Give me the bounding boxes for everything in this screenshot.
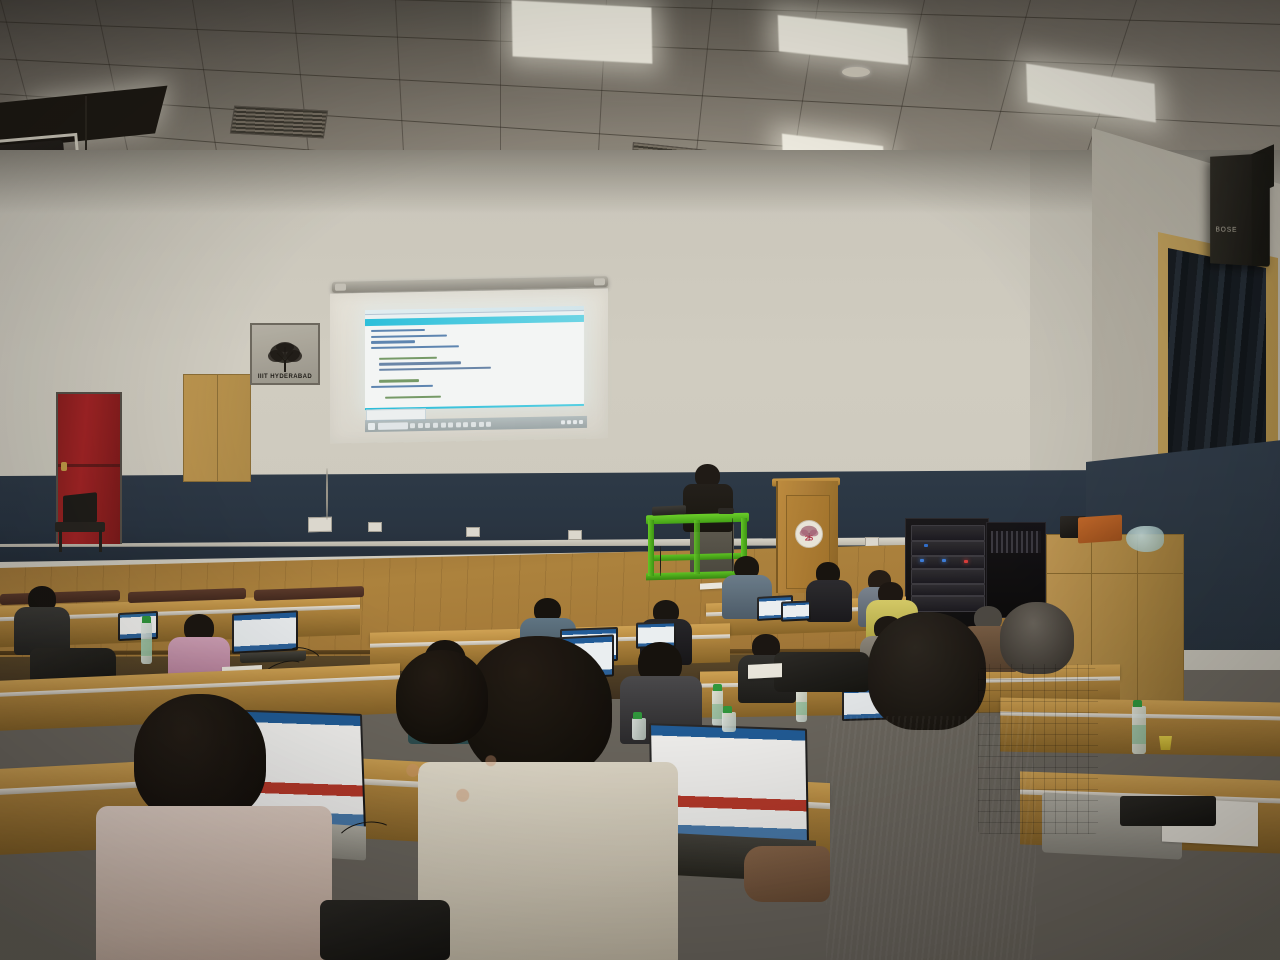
audience-member — [978, 602, 1098, 832]
lecture-hall-photo: BOSE IIIT HYDERABAD — [0, 0, 1280, 960]
notes-paper — [748, 663, 782, 679]
code-line — [371, 334, 447, 338]
water-bottle — [632, 718, 646, 740]
taskbar-app-icon — [479, 421, 484, 426]
tree-logo-icon — [265, 339, 305, 373]
water-bottle — [141, 622, 152, 664]
poster-label: IIIT HYDERABAD — [258, 374, 312, 380]
svg-text:25: 25 — [805, 534, 813, 543]
emblem-tree-25-icon: 25 — [798, 523, 820, 545]
taskbar-search-box — [378, 422, 408, 430]
code-line — [371, 340, 415, 343]
taskbar-app-icon — [448, 422, 453, 427]
taskbar-app-icon — [456, 422, 461, 427]
power-socket — [865, 537, 879, 547]
taskbar-app-icon — [463, 422, 468, 427]
ceiling-light-panel — [512, 0, 653, 63]
rack-status-led — [942, 559, 946, 562]
water-bottle — [796, 688, 807, 722]
code-line — [379, 367, 491, 372]
taskbar-app-icon — [418, 423, 423, 428]
taskbar-app-icon — [425, 422, 430, 427]
wall-wood-panel — [183, 374, 251, 482]
side-chair — [55, 494, 107, 552]
taskbar-app-icon — [471, 422, 476, 427]
presenter-equipment — [718, 508, 734, 514]
audience-member-foreground — [96, 694, 332, 960]
iiit-hyderabad-poster: IIIT HYDERABAD — [250, 323, 320, 385]
audience-member — [366, 650, 522, 814]
code-line — [385, 396, 441, 399]
code-line — [371, 385, 433, 389]
audience-member — [806, 562, 852, 618]
code-line — [379, 362, 461, 366]
plastic-bag — [1126, 526, 1164, 552]
taskbar-app-icon — [433, 422, 438, 427]
wall-mounted-speaker: BOSE — [1210, 153, 1270, 267]
backpack-foreground — [320, 900, 450, 960]
ceiling-light-panel — [778, 15, 909, 65]
institute-emblem: 25 — [795, 520, 823, 548]
code-line — [379, 357, 437, 361]
code-line — [371, 329, 425, 332]
power-socket — [466, 527, 480, 537]
audience-member — [14, 586, 70, 648]
audience-member-hand — [744, 846, 830, 902]
wall-hanging-cable — [326, 468, 328, 520]
cabinet-top-orange-box — [1078, 514, 1122, 543]
floor-paper — [700, 582, 722, 589]
projected-ide-window — [365, 306, 584, 410]
rack-status-led — [920, 559, 924, 562]
attendee-laptop — [118, 611, 158, 641]
attendee-laptop — [781, 600, 811, 622]
taskbar-app-icon — [441, 422, 446, 427]
ceiling-speaker-icon — [842, 67, 870, 77]
rack-status-led — [964, 560, 968, 563]
power-socket — [308, 517, 332, 532]
water-bottle — [1132, 706, 1146, 754]
presenter-laptop — [652, 505, 686, 516]
laptop-sleeve — [1120, 796, 1216, 826]
rack-status-led — [924, 544, 928, 547]
code-line — [379, 379, 419, 382]
attendee-laptop — [232, 610, 298, 653]
water-bottle — [722, 712, 736, 732]
start-button-icon — [368, 422, 375, 429]
taskbar-app-icon — [486, 421, 491, 426]
system-tray — [561, 420, 587, 424]
wall-shadow — [0, 150, 1280, 214]
power-socket — [568, 530, 582, 540]
code-line — [371, 345, 459, 349]
paper-cup — [1159, 736, 1172, 750]
speaker-brand-label: BOSE — [1216, 227, 1238, 234]
presenter-cable — [660, 546, 661, 576]
ceiling-air-vent — [230, 106, 328, 139]
taskbar-app-icon — [410, 423, 415, 428]
power-socket — [368, 522, 382, 532]
door-handle-icon[interactable] — [61, 462, 67, 471]
ide-code-area — [365, 322, 584, 408]
